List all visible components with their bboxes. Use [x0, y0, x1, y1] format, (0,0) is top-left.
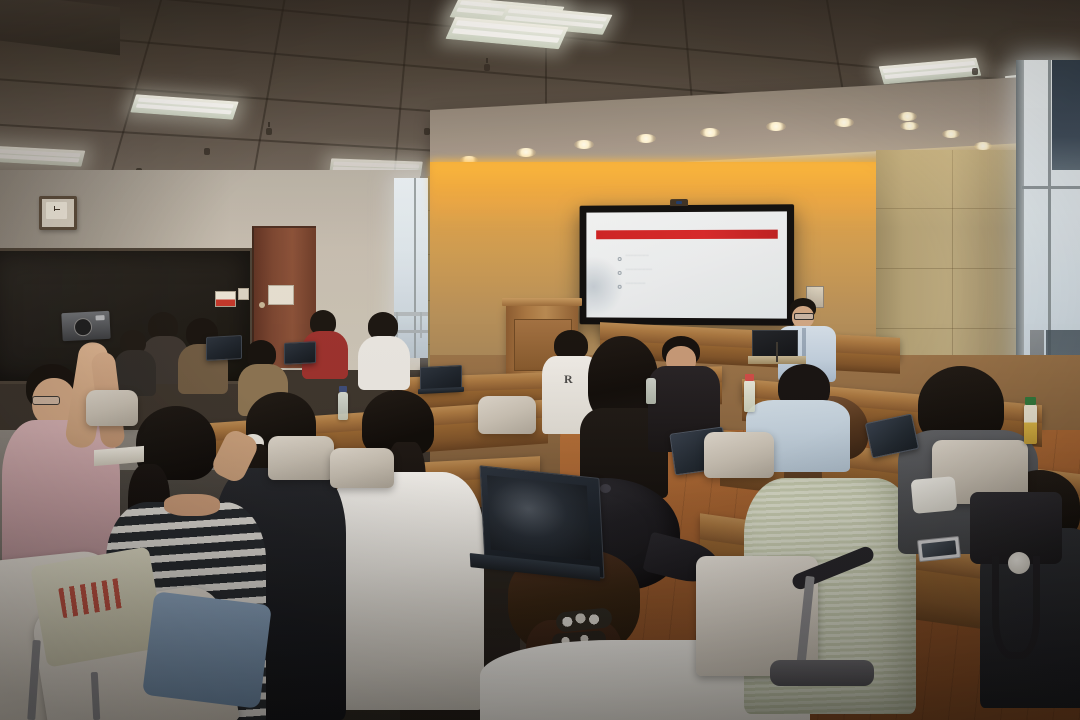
window-transom-bar	[1022, 186, 1080, 189]
bottle-cap	[339, 386, 347, 392]
neck	[164, 494, 220, 516]
slide-text-line: ················	[626, 268, 653, 273]
ceiling-sprinkler	[266, 128, 272, 135]
tote-bag-print	[58, 578, 124, 618]
laptop[interactable]	[284, 341, 316, 365]
door-notice-sign	[268, 285, 294, 305]
chair[interactable]	[478, 396, 536, 434]
wall-clock	[39, 196, 77, 230]
chair[interactable]	[330, 448, 394, 488]
bottle-cap	[745, 374, 754, 381]
glasses-icon	[32, 396, 60, 405]
bottle-cap	[1025, 397, 1036, 405]
recessed-downlight	[942, 130, 960, 138]
recessed-downlight	[898, 112, 917, 121]
window-railing-post	[420, 312, 422, 338]
ceiling-sprinkler-stem	[486, 58, 488, 63]
chair-base	[770, 660, 874, 686]
recessed-downlight	[766, 122, 786, 131]
tote-bag[interactable]	[30, 546, 166, 667]
ceiling-sprinkler	[972, 68, 978, 75]
screen-reflection	[586, 256, 623, 318]
water-bottle[interactable]	[744, 380, 755, 412]
laptop-screen-content	[487, 475, 591, 560]
glasses-icon	[794, 313, 814, 320]
lectern-top	[502, 298, 582, 306]
water-bottle[interactable]	[338, 392, 348, 420]
recessed-downlight	[974, 142, 992, 150]
bag-charm	[1008, 552, 1030, 574]
recessed-downlight	[900, 122, 919, 130]
slide-text-line: ··············	[626, 254, 649, 259]
ceiling-sprinkler	[204, 148, 210, 155]
recessed-downlight	[636, 134, 656, 143]
presentation-display[interactable]: ·············· ················ ········…	[580, 204, 795, 326]
laptop[interactable]	[206, 335, 242, 361]
microphone-stand	[776, 342, 778, 362]
tissue-pack[interactable]	[911, 476, 958, 514]
door-handle[interactable]	[259, 302, 265, 308]
display-screen-surface: ·············· ················ ········…	[586, 211, 787, 318]
window-view-dark	[1052, 60, 1080, 170]
chair[interactable]	[86, 390, 138, 426]
slide-text-line: ············	[626, 282, 646, 287]
compact-camera[interactable]	[61, 311, 110, 341]
camera-flash	[95, 315, 104, 320]
slide-accent-bar	[596, 230, 778, 240]
chair[interactable]	[704, 432, 774, 478]
denim-jacket	[142, 591, 272, 709]
recessed-downlight	[700, 128, 720, 137]
recessed-downlight	[834, 118, 854, 127]
smartphone[interactable]	[917, 536, 961, 562]
water-bottle[interactable]	[1024, 404, 1037, 444]
photograph-canvas: ·············· ················ ········…	[0, 0, 1080, 720]
conference-camera-icon	[670, 199, 688, 206]
ceiling-sprinkler-stem	[268, 122, 270, 127]
ceiling-sprinkler	[484, 64, 490, 71]
shirt-letter-r: R	[564, 372, 576, 386]
recessed-downlight	[574, 140, 594, 149]
wall-switch-plate[interactable]	[238, 288, 249, 300]
recessed-downlight	[516, 148, 536, 157]
chair[interactable]	[268, 436, 334, 480]
water-bottle[interactable]	[646, 378, 656, 404]
cap-button	[600, 484, 611, 493]
wall-notice-sign	[215, 291, 236, 307]
